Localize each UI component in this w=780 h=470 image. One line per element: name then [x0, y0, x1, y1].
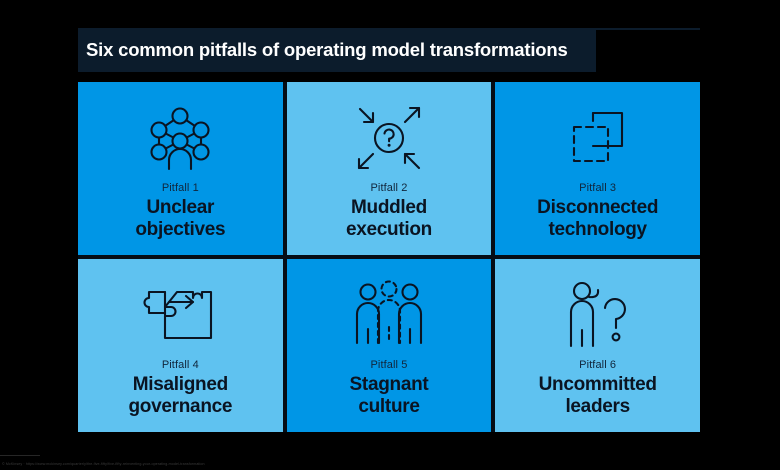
question-mark-scattered-arrows-icon — [287, 100, 492, 176]
slide-canvas: Six common pitfalls of operating model t… — [0, 0, 780, 470]
pitfall-tile-5[interactable]: Pitfall 5 Stagnant culture — [287, 259, 492, 432]
pitfall-label: Pitfall 1 — [162, 182, 199, 194]
three-people-dashed-middle-icon — [287, 277, 492, 353]
pitfall-label: Pitfall 3 — [579, 182, 616, 194]
pitfall-title: Stagnant culture — [344, 374, 435, 418]
pitfall-title-line1: Stagnant — [350, 374, 429, 395]
pitfall-title: Muddled execution — [340, 197, 438, 241]
pitfall-tile-2[interactable]: Pitfall 2 Muddled execution — [287, 82, 492, 255]
pitfall-title-line2: culture — [358, 396, 419, 417]
pitfall-title: Disconnected technology — [531, 197, 664, 241]
pitfall-tile-1[interactable]: Pitfall 1 Unclear objectives — [78, 82, 283, 255]
pitfall-title: Misaligned governance — [123, 374, 239, 418]
pitfall-title-line1: Uncommitted — [539, 374, 657, 395]
pitfall-tile-3[interactable]: Pitfall 3 Disconnected technology — [495, 82, 700, 255]
footer-credit: © McKinsey · https://www.mckinsey.com/qu… — [2, 463, 402, 467]
pitfall-title-line1: Misaligned — [133, 374, 228, 395]
pitfall-title-line2: governance — [129, 396, 233, 417]
pitfalls-grid: Pitfall 1 Unclear objectives — [78, 82, 700, 432]
pitfall-title-line2: technology — [548, 219, 646, 240]
pitfall-title-line2: leaders — [565, 396, 629, 417]
footer-divider — [0, 455, 40, 456]
network-nodes-person-icon — [78, 100, 283, 176]
pitfall-title-line2: objectives — [135, 219, 225, 240]
pitfall-title-line1: Muddled — [351, 197, 427, 218]
pitfall-label: Pitfall 5 — [371, 359, 408, 371]
puzzle-pieces-arrow-icon — [78, 277, 283, 353]
pitfall-label: Pitfall 2 — [371, 182, 408, 194]
pitfall-tile-4[interactable]: Pitfall 4 Misaligned governance — [78, 259, 283, 432]
header-black-overlay — [596, 30, 706, 72]
person-question-mark-icon — [495, 277, 700, 353]
dashed-solid-squares-icon — [495, 100, 700, 176]
pitfall-title-line2: execution — [346, 219, 432, 240]
pitfall-title-line1: Disconnected — [537, 197, 658, 218]
pitfall-label: Pitfall 4 — [162, 359, 199, 371]
pitfall-title-line1: Unclear — [147, 197, 215, 218]
page-title: Six common pitfalls of operating model t… — [78, 39, 568, 61]
pitfall-tile-6[interactable]: Pitfall 6 Uncommitted leaders — [495, 259, 700, 432]
pitfall-title: Unclear objectives — [129, 197, 231, 241]
pitfall-title: Uncommitted leaders — [533, 374, 663, 418]
pitfall-label: Pitfall 6 — [579, 359, 616, 371]
